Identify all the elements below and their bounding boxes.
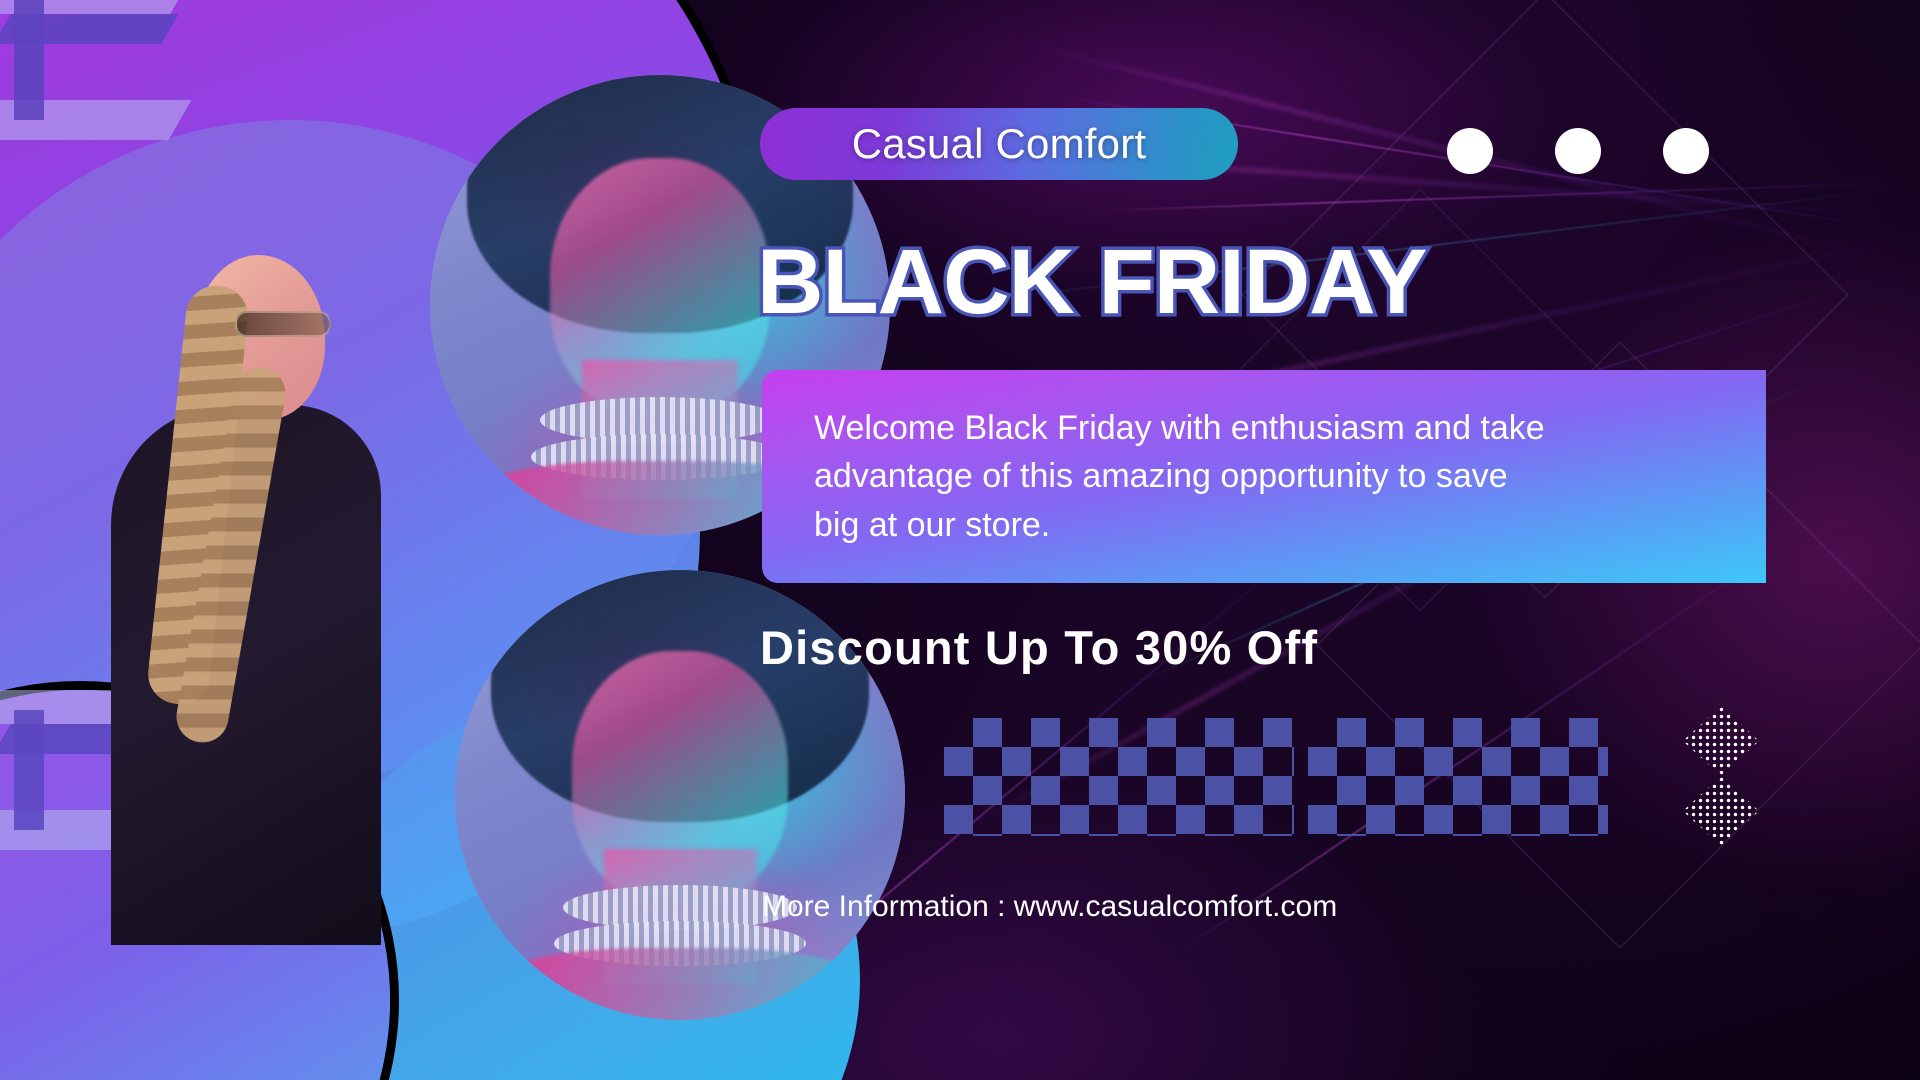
brand-badge: Casual Comfort <box>760 108 1238 180</box>
dot-1-icon <box>1447 128 1493 174</box>
checkerboard-decor-right <box>1308 718 1608 836</box>
page-title: BLACK FRIDAY <box>757 230 1457 335</box>
model-hoodie-figure <box>85 245 415 945</box>
sunglasses-icon <box>235 311 331 337</box>
description-text: Welcome Black Friday with enthusiasm and… <box>814 404 1554 549</box>
description-panel: Welcome Black Friday with enthusiasm and… <box>762 370 1766 583</box>
dot-2-icon <box>1555 128 1601 174</box>
black-friday-banner: Casual Comfort BLACK FRIDAY Welcome Blac… <box>0 0 1920 1080</box>
brand-badge-label: Casual Comfort <box>852 120 1147 168</box>
dot-indicator-group <box>1447 128 1709 174</box>
penrose-triangle-icon <box>0 0 220 200</box>
more-information-line: More Information : www.casualcomfort.com <box>762 890 1337 924</box>
checkerboard-decor-left <box>944 718 1294 836</box>
dot-3-icon <box>1663 128 1709 174</box>
discount-headline: Discount Up To 30% Off <box>760 620 1580 675</box>
